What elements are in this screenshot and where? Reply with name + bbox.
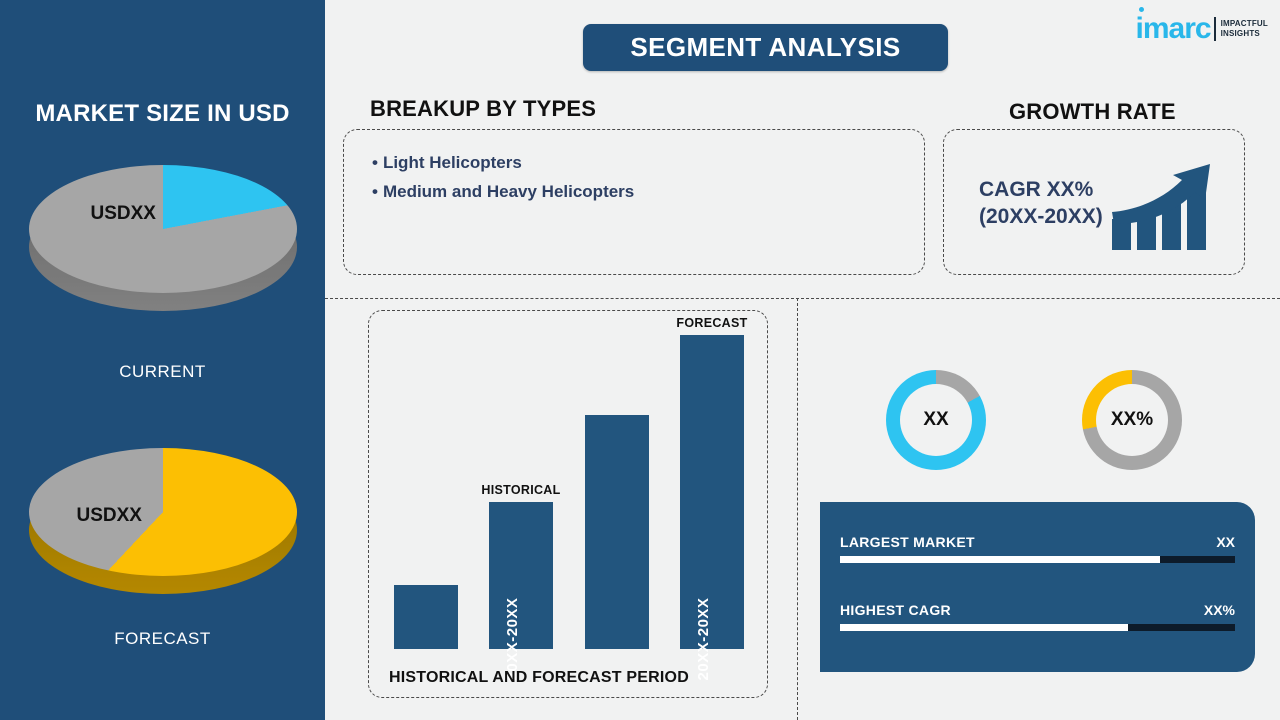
largest-market-donut: XX (886, 370, 986, 470)
cagr-text: CAGR XX% (20XX-20XX) (979, 177, 1103, 231)
breakup-card: •Light Helicopters •Medium and Heavy Hel… (343, 129, 925, 275)
growth-card: CAGR XX% (20XX-20XX) (943, 129, 1245, 275)
highest-cagr-progress-track (840, 624, 1235, 631)
current-pie-caption: CURRENT (0, 362, 325, 382)
highest-cagr-donut-label: XX% (1111, 409, 1153, 431)
forecast-annotation: FORECAST (676, 316, 747, 330)
imarc-logo: imarc IMPACTFUL INSIGHTS (1136, 14, 1268, 44)
logo-i-dot-icon (1139, 7, 1144, 12)
breakup-list: •Light Helicopters •Medium and Heavy Hel… (372, 148, 634, 206)
page-title-bar: SEGMENT ANALYSIS (583, 24, 948, 71)
bar-1-label: 20XX-20XX (504, 598, 521, 681)
breakup-heading: BREAKUP BY TYPES (370, 96, 596, 122)
largest-market-donut-center: XX (900, 384, 972, 456)
logo-wordmark-text: imarc (1136, 12, 1211, 45)
highest-cagr-value: XX% (1204, 602, 1235, 618)
historical-forecast-chart-card: 20XX-20XX 20XX-20XX HISTORICAL FORECAST … (368, 310, 768, 698)
current-pie-chart: USDXX (0, 165, 325, 325)
market-size-sidebar: MARKET SIZE IN USD USDXX CURRENT USDXX F… (0, 0, 325, 720)
bar-1: 20XX-20XX (489, 502, 553, 649)
list-item: •Medium and Heavy Helicopters (372, 177, 634, 206)
market-stats-panel: LARGEST MARKET XX HIGHEST CAGR XX% (820, 502, 1255, 672)
bar-3: 20XX-20XX (680, 335, 744, 649)
highest-cagr-stat: HIGHEST CAGR XX% (840, 598, 1235, 631)
historical-annotation: HISTORICAL (481, 483, 560, 497)
bar-2 (585, 415, 649, 649)
largest-market-label: LARGEST MARKET (840, 534, 975, 550)
logo-tagline-line1: IMPACTFUL (1221, 19, 1268, 29)
vertical-divider (797, 298, 798, 720)
breakup-item-1: Medium and Heavy Helicopters (383, 182, 634, 201)
page-title: SEGMENT ANALYSIS (630, 32, 900, 63)
bullet-icon: • (372, 153, 378, 172)
highest-cagr-progress-fill (840, 624, 1128, 631)
bar-chart-plot: 20XX-20XX 20XX-20XX HISTORICAL FORECAST (394, 329, 744, 649)
list-item: •Light Helicopters (372, 148, 634, 177)
largest-market-progress-fill (840, 556, 1160, 563)
largest-market-stat: LARGEST MARKET XX (840, 530, 1235, 563)
highest-cagr-label: HIGHEST CAGR (840, 602, 951, 618)
largest-market-value: XX (1216, 534, 1235, 550)
logo-divider (1214, 17, 1216, 41)
infographic-root: MARKET SIZE IN USD USDXX CURRENT USDXX F… (0, 0, 1280, 720)
logo-wordmark: imarc (1136, 14, 1211, 44)
forecast-pie-value-label: USDXX (77, 505, 142, 527)
content-area: SEGMENT ANALYSIS imarc IMPACTFUL INSIGHT… (325, 0, 1280, 720)
forecast-pie-caption: FORECAST (0, 629, 325, 649)
cagr-line-1: CAGR XX% (979, 177, 1103, 204)
growth-arrow-bars-icon (1110, 162, 1218, 257)
forecast-pie-surface (29, 448, 297, 576)
highest-cagr-donut-center: XX% (1096, 384, 1168, 456)
current-pie-value-label: USDXX (91, 203, 156, 225)
bullet-icon: • (372, 182, 378, 201)
largest-market-donut-label: XX (923, 409, 948, 431)
logo-tagline-line2: INSIGHTS (1221, 29, 1268, 39)
highest-cagr-donut: XX% (1082, 370, 1182, 470)
largest-market-progress-track (840, 556, 1235, 563)
growth-heading: GROWTH RATE (1009, 99, 1176, 125)
bar-3-label: 20XX-20XX (695, 598, 712, 681)
bar-0 (394, 585, 458, 649)
logo-tagline: IMPACTFUL INSIGHTS (1221, 19, 1268, 39)
horizontal-divider (325, 298, 1280, 299)
chart-x-axis-label: HISTORICAL AND FORECAST PERIOD (389, 669, 689, 687)
current-pie-surface (29, 165, 297, 293)
forecast-pie-chart: USDXX (0, 448, 325, 608)
cagr-line-2: (20XX-20XX) (979, 204, 1103, 231)
sidebar-title: MARKET SIZE IN USD (0, 100, 325, 128)
breakup-item-0: Light Helicopters (383, 153, 522, 172)
